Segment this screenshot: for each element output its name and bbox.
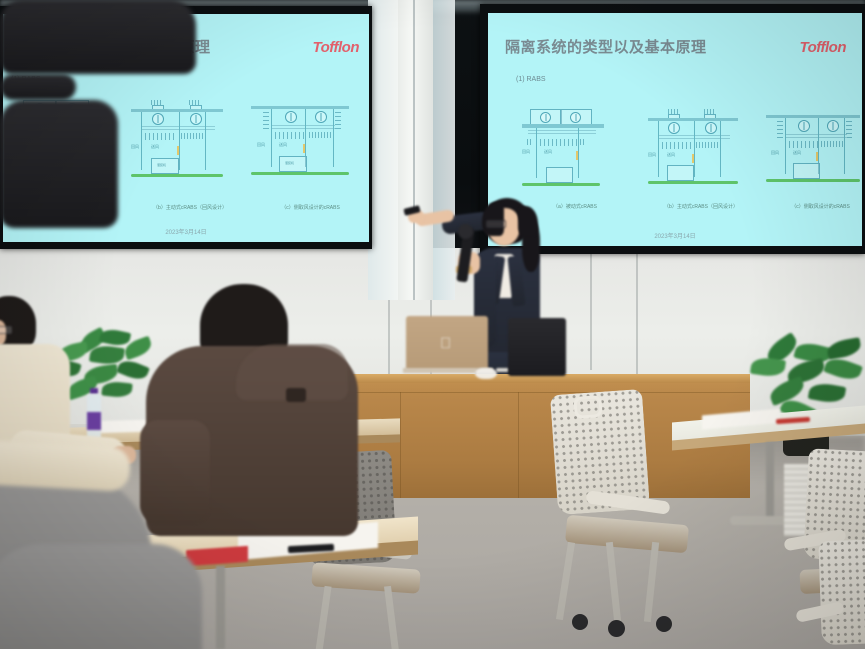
chair-center[interactable] (548, 392, 718, 632)
black-backpack (0, 0, 196, 74)
presenter-hair-front (482, 202, 504, 236)
chair-caster (608, 620, 625, 637)
tofflon-logo: Tofflon (313, 39, 359, 56)
jacket-buckle (286, 388, 306, 402)
chair-right-back[interactable] (796, 540, 865, 649)
eyeglasses (0, 326, 12, 334)
chair-leg (384, 586, 399, 649)
diagram-c: 回风 送风 灌装机 (251, 100, 361, 200)
right-table-leg (766, 442, 774, 522)
attendee-left-arm (0, 444, 130, 524)
caption-c: （c）侧取风设计的cRABS (763, 203, 862, 210)
face-mask (475, 368, 497, 379)
chair-leg (606, 542, 621, 622)
tofflon-logo: Tofflon (800, 39, 846, 56)
wall-seam (590, 250, 592, 370)
chair-caster (656, 616, 672, 632)
black-backpack-floor (0, 100, 118, 228)
presenter-hair-back (518, 206, 538, 236)
chair-leg (315, 586, 331, 649)
conference-room-photo: 隔离系统的类型以及基本原理 Tofflon (1) RABS (0, 0, 865, 649)
eyeglasses (486, 220, 506, 228)
caption-c: （c）侧取风设计的cRABS (253, 204, 368, 211)
slide-title: 隔离系统的类型以及基本原理 (505, 36, 707, 57)
dark-monitor (508, 318, 566, 376)
diagram-c: 回风 送风 (766, 109, 862, 209)
chair-leg (644, 542, 659, 622)
wall-pillar-left (368, 0, 398, 300)
chair-handle (573, 395, 602, 419)
caption-b: （b）主动式cRABS（回风设计） (636, 203, 766, 210)
slide-date: 2023年3月14日 (3, 227, 369, 236)
chair-back (818, 539, 865, 645)
microphone-head (458, 224, 473, 239)
diagram-b: 回风 送风 灌装机 (131, 100, 241, 200)
caption-b: （b）主动式cRABS（回风设计） (125, 204, 255, 211)
backpack-handle (0, 74, 76, 100)
chair-caster (572, 614, 588, 630)
chair-leg (556, 542, 575, 620)
slide-subtitle: (1) RABS (516, 76, 546, 83)
attendee-shoulder (0, 544, 202, 649)
chair-seat (565, 515, 689, 554)
apple-logo:  (440, 336, 451, 351)
diagram-b: 回风 送风 (648, 109, 758, 209)
